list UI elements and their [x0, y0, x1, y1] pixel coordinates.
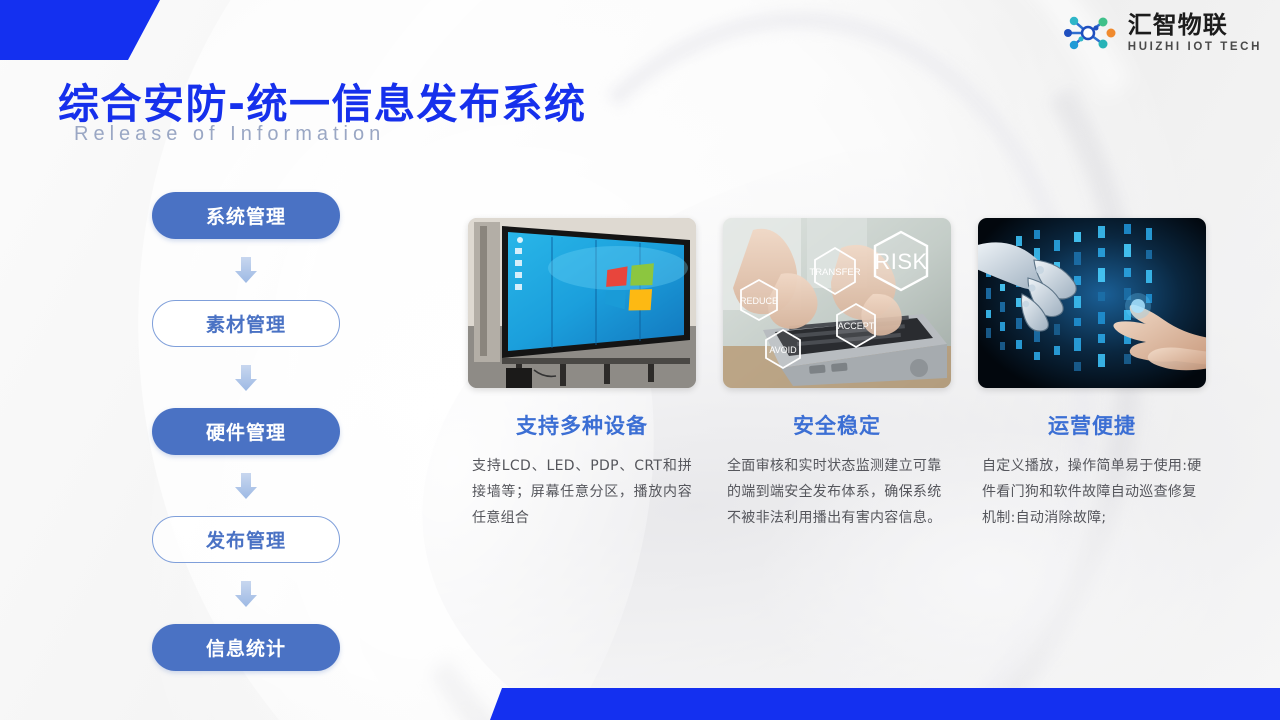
arrow-down-icon: [233, 455, 259, 516]
video-wall-photo: [468, 218, 696, 388]
arrow-down-icon: [233, 347, 259, 408]
svg-text:TRANSFER: TRANSFER: [809, 267, 860, 278]
flow-step-material-management[interactable]: 素材管理: [152, 300, 340, 347]
feature-card-list: 支持多种设备 支持LCD、LED、PDP、CRT和拼接墙等；屏幕任意分区，播放内…: [468, 218, 1206, 531]
flow-step-hardware-management[interactable]: 硬件管理: [152, 408, 340, 455]
risk-management-photo: RISK TRANSFER REDUCE ACCEPT AVOID: [723, 218, 951, 388]
feature-card-description: 支持LCD、LED、PDP、CRT和拼接墙等；屏幕任意分区，播放内容任意组合: [468, 453, 696, 531]
feature-card: 支持多种设备 支持LCD、LED、PDP、CRT和拼接墙等；屏幕任意分区，播放内…: [468, 218, 696, 531]
feature-card-description: 全面审核和实时状态监测建立可靠的端到端安全发布体系，确保系统不被非法利用播出有害…: [723, 453, 951, 531]
feature-card: RISK TRANSFER REDUCE ACCEPT AVOID 安全稳定 全…: [723, 218, 951, 531]
brand-name-cn: 汇智物联: [1128, 13, 1262, 37]
feature-card-title: 安全稳定: [723, 410, 951, 440]
feature-card-description: 自定义播放，操作简单易于使用:硬件看门狗和软件故障自动巡查修复机制:自动消除故障…: [978, 453, 1206, 531]
svg-text:AVOID: AVOID: [769, 345, 797, 355]
molecule-network-icon: [1059, 10, 1119, 56]
page-subtitle: Release of Information: [74, 123, 385, 146]
bottom-right-accent-shape: [490, 688, 1280, 720]
feature-card-title: 支持多种设备: [468, 410, 696, 440]
flow-step-system-management[interactable]: 系统管理: [152, 192, 340, 239]
flow-step-information-statistics[interactable]: 信息统计: [152, 624, 340, 671]
brand-logo: 汇智物联 HUIZHI IOT TECH: [1059, 10, 1262, 56]
robot-human-hand-photo: [978, 218, 1206, 388]
svg-text:ACCEPT: ACCEPT: [838, 321, 875, 331]
slide-canvas: 汇智物联 HUIZHI IOT TECH 综合安防-统一信息发布系统 Relea…: [0, 0, 1280, 720]
page-title: 综合安防-统一信息发布系统: [58, 70, 587, 130]
brand-name-en: HUIZHI IOT TECH: [1128, 42, 1262, 54]
svg-text:REDUCE: REDUCE: [740, 296, 778, 306]
flow-step-label: 素材管理: [206, 310, 286, 337]
feature-card-title: 运营便捷: [978, 410, 1206, 440]
flow-step-label: 信息统计: [206, 634, 286, 661]
arrow-down-icon: [233, 239, 259, 300]
feature-card: 运营便捷 自定义播放，操作简单易于使用:硬件看门狗和软件故障自动巡查修复机制:自…: [978, 218, 1206, 531]
flow-step-label: 发布管理: [206, 526, 286, 553]
flow-step-label: 系统管理: [206, 202, 286, 229]
process-flow: 系统管理 素材管理 硬件管理: [152, 192, 340, 671]
flow-step-label: 硬件管理: [206, 418, 286, 445]
flow-step-release-management[interactable]: 发布管理: [152, 516, 340, 563]
arrow-down-icon: [233, 563, 259, 624]
svg-text:RISK: RISK: [874, 249, 927, 274]
